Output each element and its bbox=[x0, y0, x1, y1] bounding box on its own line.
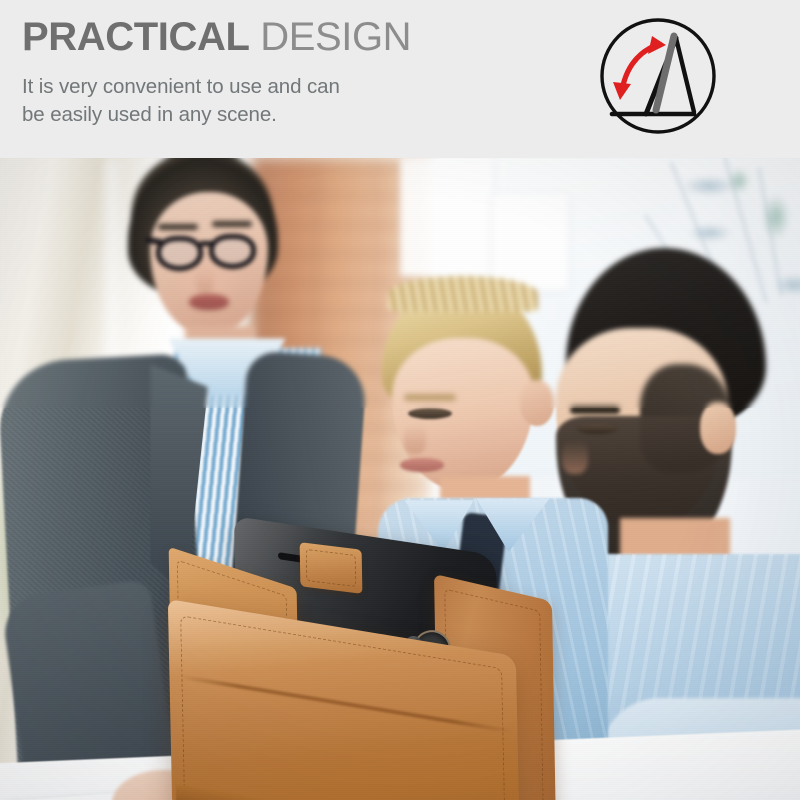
man-right-nose bbox=[562, 440, 588, 474]
page-subtitle: It is very convenient to use and can be … bbox=[22, 73, 582, 129]
adjustable-stand-angle-icon bbox=[598, 16, 718, 136]
header-text-block: PRACTICAL DESIGN It is very convenient t… bbox=[22, 14, 582, 129]
man-center-hair-texture bbox=[388, 276, 538, 312]
page-title-light: DESIGN bbox=[250, 15, 412, 59]
page-subtitle-line-2: be easily used in any scene. bbox=[22, 101, 582, 129]
whiteboard-scribble bbox=[762, 194, 790, 240]
eyeglasses-left-lens bbox=[156, 236, 203, 271]
page-subtitle-line-1: It is very convenient to use and can bbox=[22, 73, 582, 101]
page-title-strong: PRACTICAL bbox=[22, 15, 250, 59]
woman-eyebrow bbox=[212, 221, 252, 227]
man-center-ear bbox=[520, 380, 554, 426]
man-center-nose bbox=[404, 424, 426, 454]
man-right-ear bbox=[700, 402, 736, 454]
header-band: PRACTICAL DESIGN It is very convenient t… bbox=[0, 0, 800, 158]
eyeglasses-right-lens bbox=[209, 234, 256, 269]
man-center-eyebrow bbox=[404, 394, 456, 401]
product-lifestyle-photo bbox=[0, 158, 800, 800]
whiteboard-scribble bbox=[774, 274, 800, 296]
product-feature-banner: PRACTICAL DESIGN It is very convenient t… bbox=[0, 0, 800, 800]
man-right-eyebrow bbox=[570, 406, 620, 414]
eyeglasses-bridge bbox=[200, 241, 213, 246]
man-center-mouth bbox=[400, 458, 444, 472]
page-title: PRACTICAL DESIGN bbox=[22, 14, 582, 60]
strap-stitching bbox=[306, 549, 357, 587]
woman-nose bbox=[196, 268, 214, 294]
pinned-paper-note bbox=[400, 158, 492, 276]
whiteboard-scribble bbox=[688, 224, 732, 242]
man-center-eye bbox=[408, 408, 452, 419]
woman-mouth bbox=[189, 294, 229, 310]
woman-eyebrow bbox=[158, 224, 198, 230]
man-right-eye bbox=[576, 424, 618, 434]
pinned-paper-note bbox=[492, 194, 568, 290]
whiteboard-scribble bbox=[728, 168, 750, 194]
